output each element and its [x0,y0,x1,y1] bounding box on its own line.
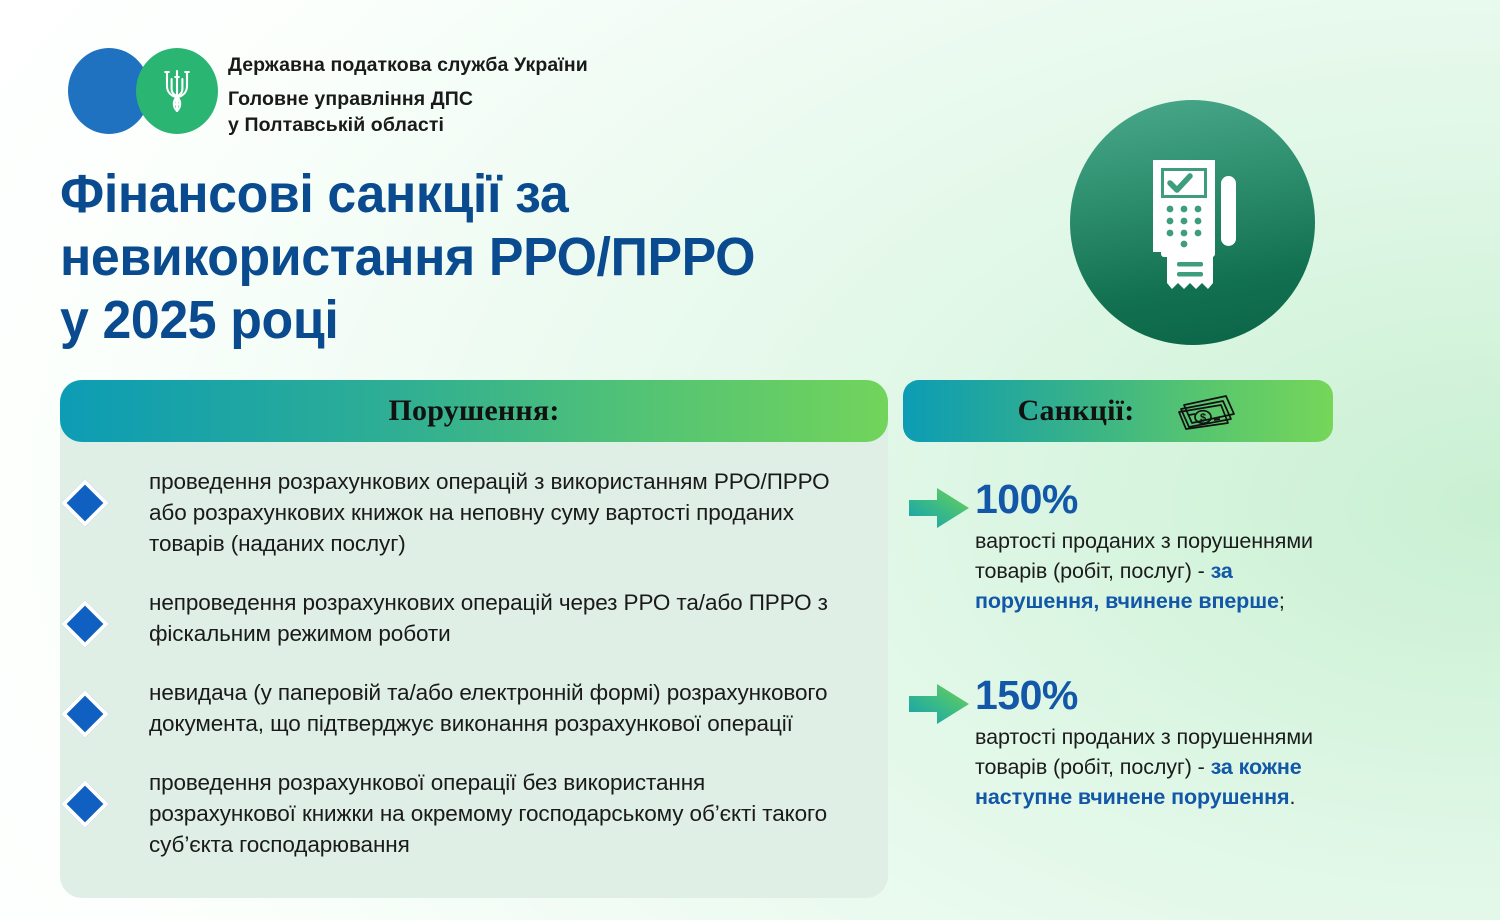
sanction-item: 100% вартості проданих з порушеннями тов… [903,478,1333,616]
diamond-bullet-icon [61,479,109,527]
agency-line-3: у Полтавській області [228,112,588,138]
list-item: невидача (у паперовій та/або електронній… [94,677,854,739]
violation-text: непроведення розрахункових операцій чере… [149,587,854,649]
page-title: Фінансові санкції за невикористання РРО/… [60,163,905,352]
agency-line-2: Головне управління ДПС [228,86,588,112]
infographic-page: Державна податкова служба України Головн… [0,0,1500,920]
sanctions-column: Санкції: $ [903,380,1333,812]
arrow-right-icon [907,682,971,726]
logo-green-circle [136,48,218,134]
agency-logo-block: Державна податкова служба України Головн… [68,48,588,138]
hero-badge [1070,100,1315,345]
sanction-percent: 100% [975,478,1333,520]
sanctions-header-label: Санкції: [1018,394,1135,428]
diamond-bullet-icon [61,690,109,738]
violation-text: проведення розрахункових операцій з вико… [149,466,854,559]
page-title-line-1: Фінансові санкції за [60,163,905,226]
page-title-line-3: у 2025 році [60,289,905,352]
trident-icon [159,67,195,115]
sanction-description: вартості проданих з порушеннями товарів … [975,722,1333,812]
page-title-line-2: невикористання РРО/ПРРО [60,226,905,289]
sanction-percent: 150% [975,674,1333,716]
violations-header: Порушення: [60,380,888,442]
violation-text: проведення розрахункової операції без ви… [149,767,854,860]
diamond-bullet-icon [61,780,109,828]
list-item: проведення розрахункових операцій з вико… [94,466,854,559]
violations-panel: Порушення: проведення розрахункових опер… [60,380,888,898]
sanctions-header: Санкції: $ [903,380,1333,442]
violations-list: проведення розрахункових операцій з вико… [60,442,888,898]
violations-header-label: Порушення: [388,394,559,428]
arrow-right-icon [907,486,971,530]
agency-name-text: Державна податкова служба України Головн… [228,48,588,138]
svg-text:$: $ [1200,412,1206,424]
sanction-description: вартості проданих з порушеннями товарів … [975,526,1333,616]
diamond-bullet-icon [61,600,109,648]
list-item: проведення розрахункової операції без ви… [94,767,854,860]
violation-text: невидача (у паперовій та/або електронній… [149,677,854,739]
sanction-text-plain-2: ; [1279,589,1285,613]
sanction-item: 150% вартості проданих з порушеннями тов… [903,674,1333,812]
sanction-text-plain-2: . [1290,785,1296,809]
sanction-text-plain-1: вартості проданих з порушеннями товарів … [975,529,1313,583]
pos-terminal-icon [1125,148,1260,298]
agency-line-1: Державна податкова служба України [228,52,588,78]
list-item: непроведення розрахункових операцій чере… [94,587,854,649]
logo-marks [68,48,213,134]
banknotes-icon: $ [1176,392,1238,430]
